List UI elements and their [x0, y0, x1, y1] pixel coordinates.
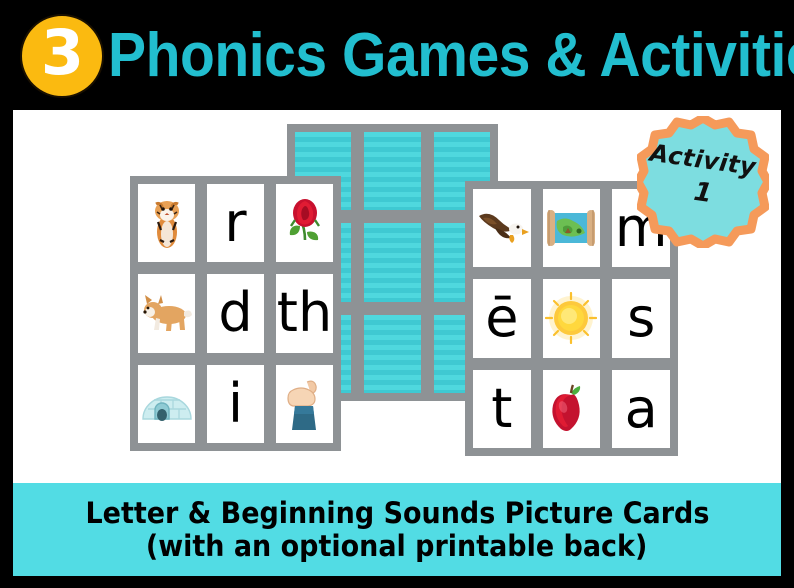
page-title: Phonics Games & Activities: [108, 12, 784, 100]
page-title-text: Phonics Games & Activities: [108, 25, 794, 87]
number-badge: 3: [20, 14, 104, 98]
sun-icon: [545, 292, 597, 344]
letter-card-s: s: [608, 275, 674, 361]
picture-card-map: [539, 185, 605, 271]
number-badge-value: 3: [41, 22, 83, 84]
picture-card-dog: [134, 270, 199, 356]
card-back: [360, 128, 424, 214]
letter-card-d: d: [203, 270, 268, 356]
picture-card-grid-left: r: [130, 176, 341, 451]
map-icon: [543, 207, 599, 249]
letter-card-r: r: [203, 180, 268, 266]
activity-badge: Activity 1: [637, 116, 769, 248]
picture-card-tiger: [134, 180, 199, 266]
letter-a: a: [625, 382, 658, 436]
letter-th: th: [277, 286, 332, 340]
picture-card-apple: [539, 366, 605, 452]
poster-header: 3 Phonics Games & Activities: [0, 0, 794, 110]
dog-icon: [139, 292, 195, 334]
letter-s: s: [627, 291, 655, 345]
apple-icon: [546, 383, 596, 435]
caption-line-1: Letter & Beginning Sounds Picture Cards: [85, 497, 709, 529]
picture-card-sun: [539, 275, 605, 361]
letter-r: r: [224, 196, 246, 250]
tiger-icon: [144, 196, 190, 250]
letter-card-i: i: [203, 361, 268, 447]
igloo-icon: [139, 383, 195, 425]
card-back: [360, 219, 424, 305]
thumb-icon: [283, 376, 327, 432]
eagle-icon: [473, 208, 531, 248]
letter-d: d: [218, 286, 252, 340]
caption-banner: Letter & Beginning Sounds Picture Cards …: [13, 483, 781, 576]
picture-card-thumb: [272, 361, 337, 447]
rose-icon: [281, 196, 329, 250]
letter-card-a: a: [608, 366, 674, 452]
letter-t: t: [491, 382, 512, 436]
letter-e-macron: ē: [485, 291, 518, 345]
caption-line-2: (with an optional printable back): [146, 530, 647, 562]
letter-i: i: [228, 377, 243, 431]
letter-card-t: t: [469, 366, 535, 452]
picture-card-eagle: [469, 185, 535, 271]
phonics-poster: 3 Phonics Games & Activities: [0, 0, 794, 588]
letter-card-e-macron: ē: [469, 275, 535, 361]
card-back: [360, 311, 424, 397]
picture-card-igloo: [134, 361, 199, 447]
picture-card-rose: [272, 180, 337, 266]
letter-card-th: th: [272, 270, 337, 356]
